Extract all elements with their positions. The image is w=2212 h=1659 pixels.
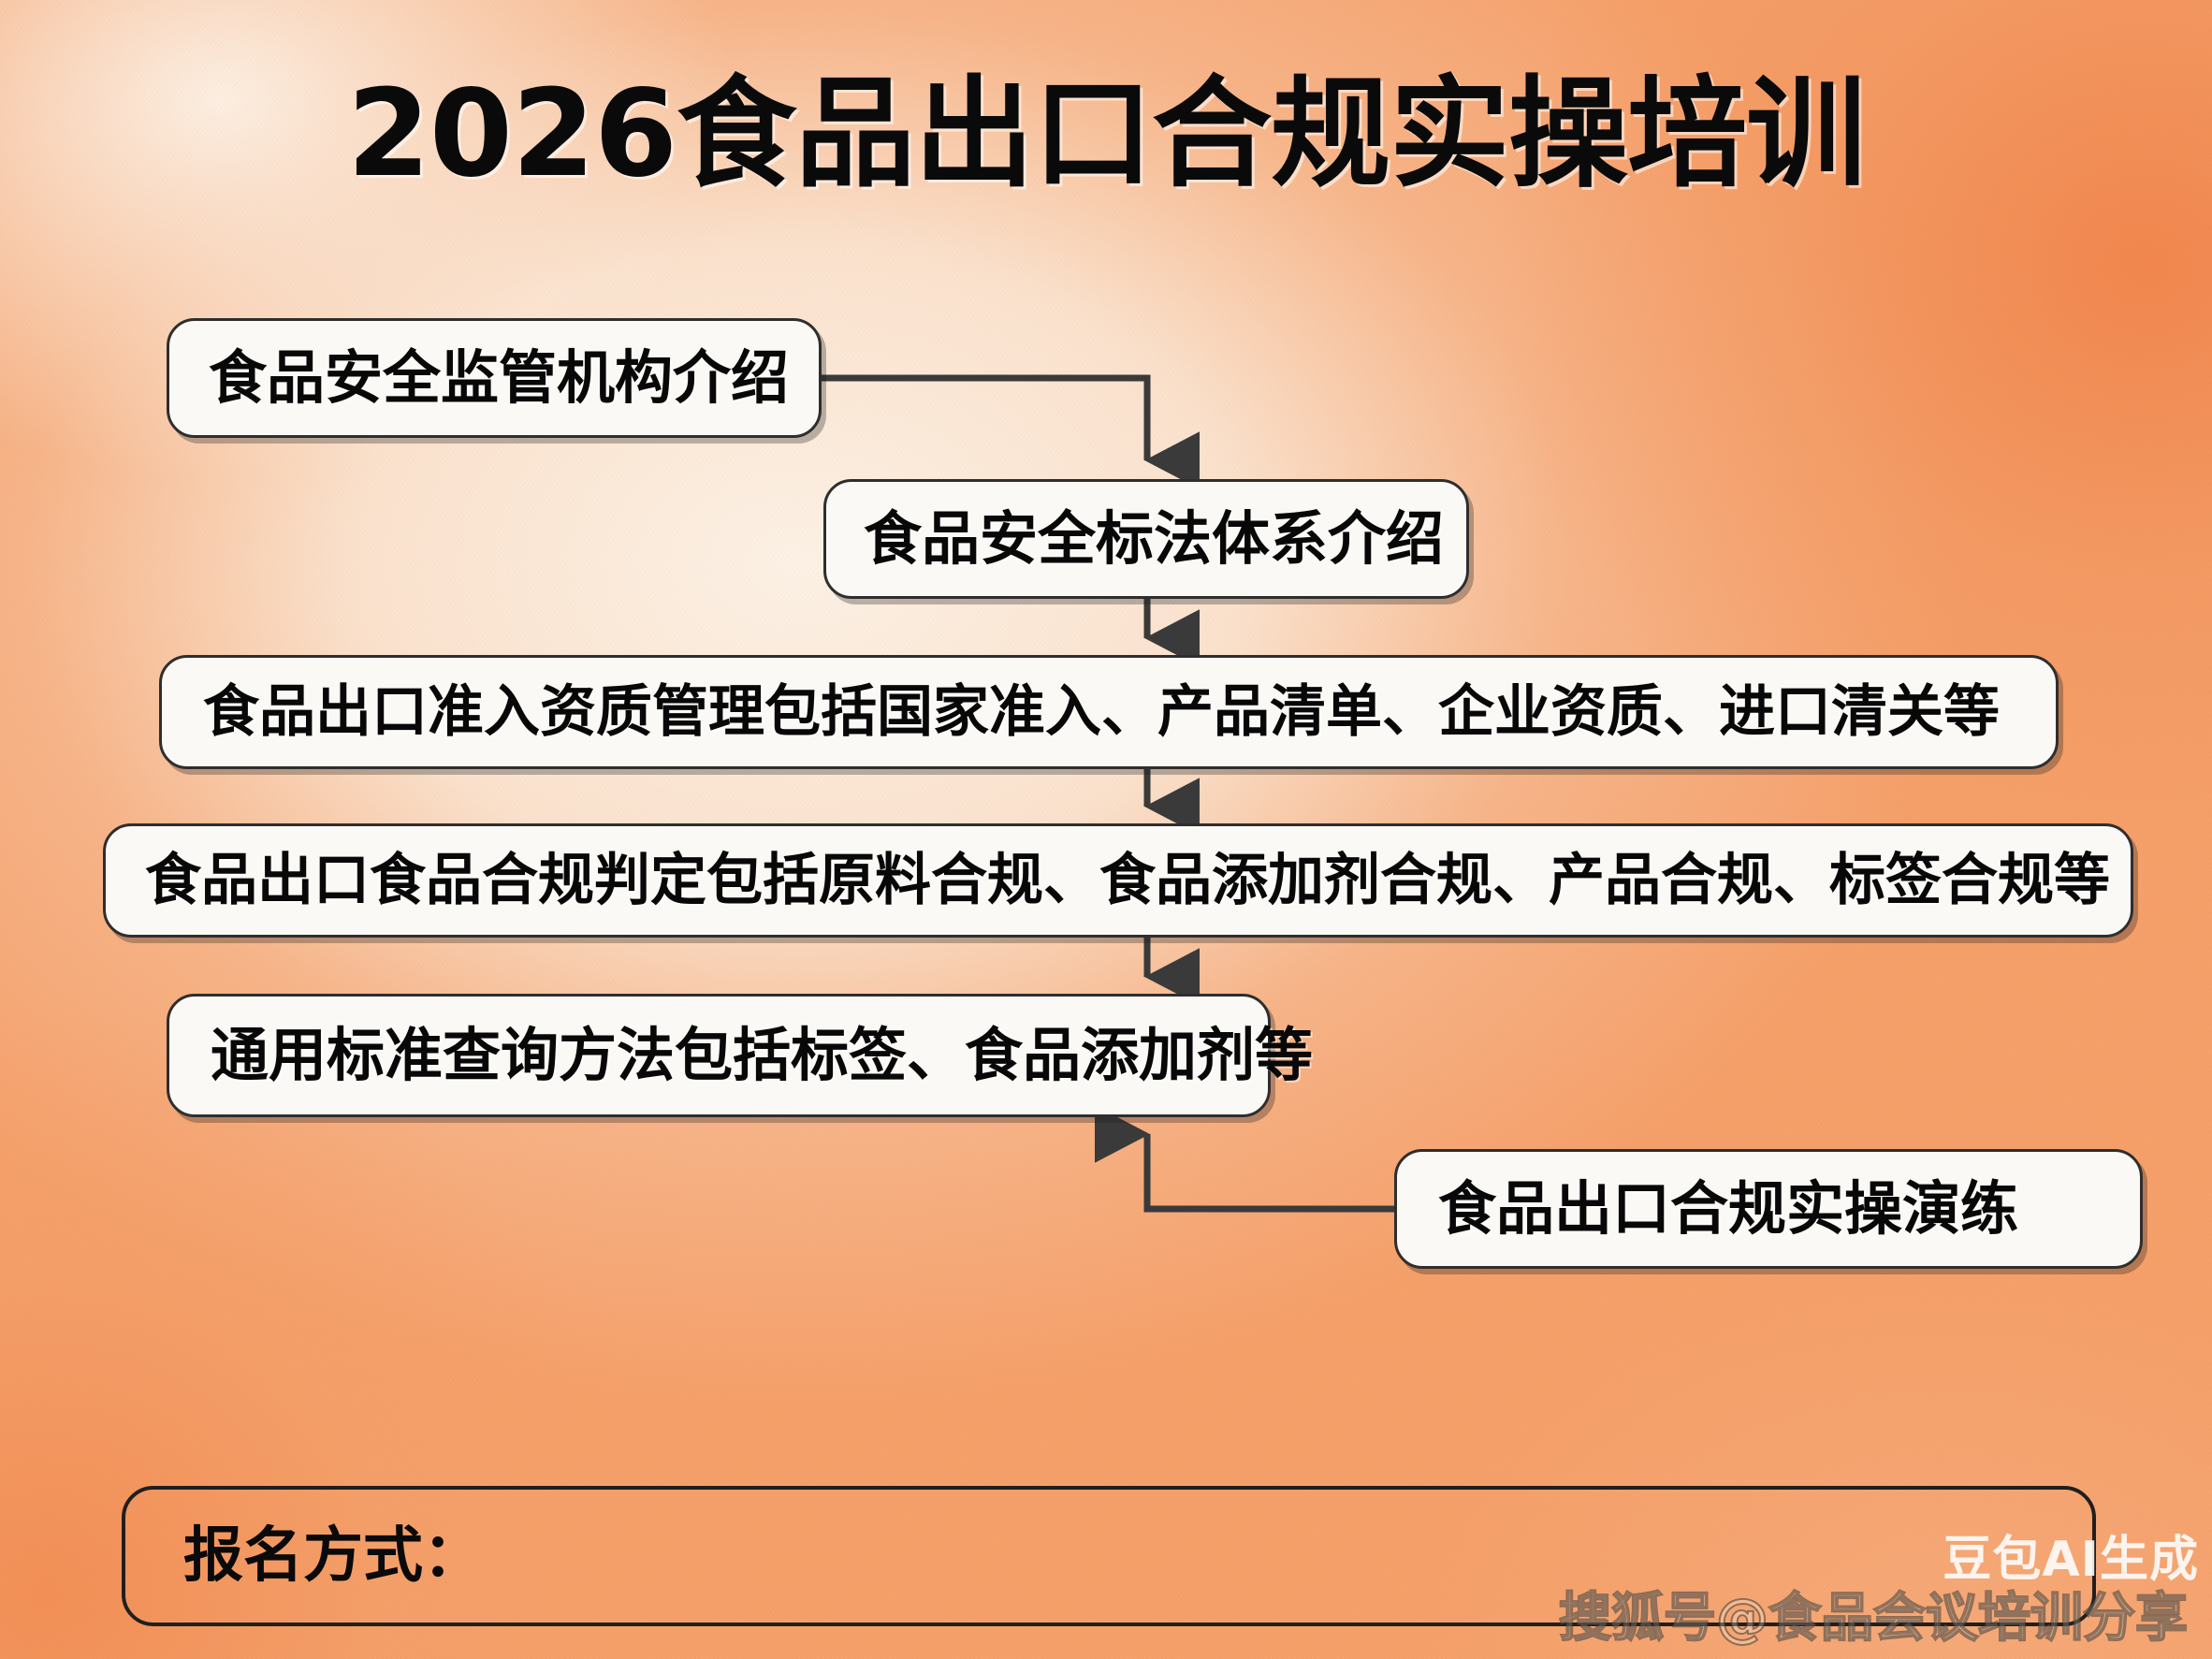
flow-node-export-access[interactable]: 食品出口准入资质管理包括国家准入、产品清单、企业资质、进口清关等 [159, 655, 2059, 769]
registration-label: 报名方式： [183, 1526, 483, 1586]
edge-node6-node5 [1147, 1134, 1394, 1209]
flow-node-label: 食品安全标法体系介绍 [864, 510, 1444, 568]
flow-node-standards-system[interactable]: 食品安全标法体系介绍 [823, 479, 1469, 599]
flow-node-regulator-intro[interactable]: 食品安全监管机构介绍 [167, 318, 822, 438]
flow-node-practice-drill[interactable]: 食品出口合规实操演练 [1394, 1149, 2143, 1269]
flow-node-label: 食品出口食品合规判定包括原料合规、食品添加剂合规、产品合规、标签合规等 [145, 852, 2110, 909]
flow-node-compliance-判定[interactable]: 食品出口食品合规判定包括原料合规、食品添加剂合规、产品合规、标签合规等 [103, 823, 2133, 938]
channel-watermark: 搜狐号@食品会议培训分享 [1559, 1576, 2188, 1652]
flow-node-label: 食品出口合规实操演练 [1438, 1180, 2018, 1238]
poster-canvas: 2026食品出口合规实操培训 食品安全监管机构介绍 食品安全 [0, 0, 2212, 1659]
edge-node1-node2 [822, 378, 1147, 460]
flow-node-standard-lookup[interactable]: 通用标准查询方法包括标签、食品添加剂等 [167, 994, 1271, 1117]
flow-node-label: 食品安全监管机构介绍 [209, 349, 789, 407]
page-title: 2026食品出口合规实操培训 [0, 60, 2212, 210]
flow-node-label: 食品出口准入资质管理包括国家准入、产品清单、企业资质、进口清关等 [203, 684, 2000, 740]
flow-node-label: 通用标准查询方法包括标签、食品添加剂等 [211, 1026, 1313, 1084]
